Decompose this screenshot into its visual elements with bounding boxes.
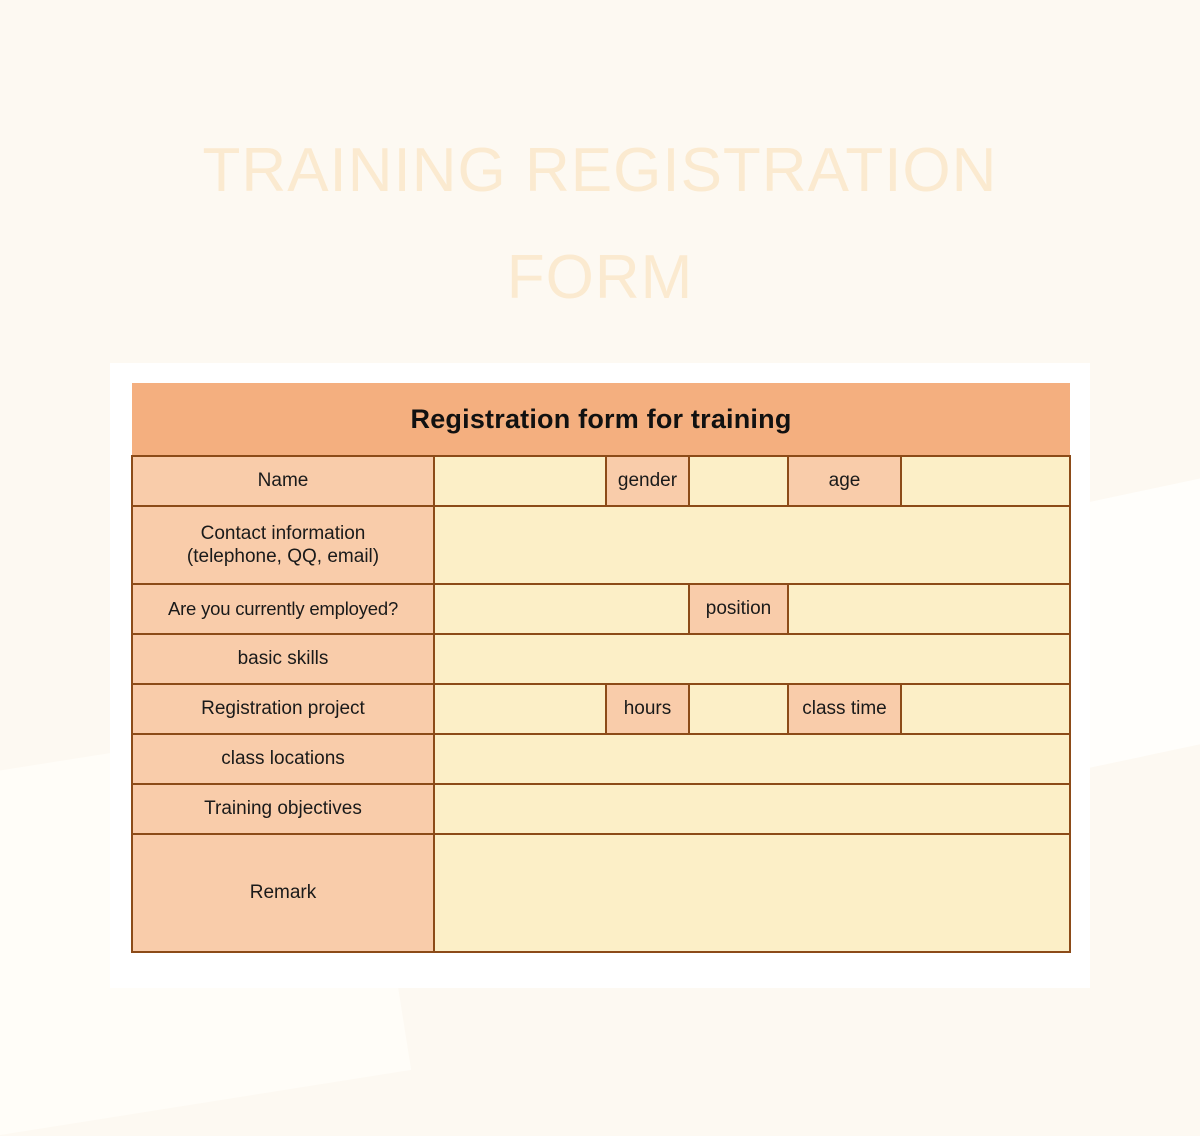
row-sublabel-gender: gender	[606, 456, 689, 506]
row-label-training-objectives: Training objectives	[132, 784, 434, 834]
row-sublabel-hours: hours	[606, 684, 689, 734]
table-row-remark: Remark	[132, 834, 1070, 952]
input-name-value[interactable]	[434, 456, 606, 506]
row-label-class-locations: class locations	[132, 734, 434, 784]
input-position-value[interactable]	[788, 584, 1070, 634]
input-contact-information-value[interactable]	[434, 506, 1070, 584]
input-training-objectives-value[interactable]	[434, 784, 1070, 834]
row-label-contact-line1: Contact information	[137, 522, 429, 545]
row-label-name: Name	[132, 456, 434, 506]
row-label-remark: Remark	[132, 834, 434, 952]
table-row-name: Name gender age	[132, 456, 1070, 506]
page-title: TRAINING REGISTRATION FORM	[0, 118, 1200, 331]
input-age-value[interactable]	[901, 456, 1070, 506]
input-class-locations-value[interactable]	[434, 734, 1070, 784]
input-employed-value[interactable]	[434, 584, 689, 634]
input-hours-value[interactable]	[689, 684, 788, 734]
row-label-basic-skills: basic skills	[132, 634, 434, 684]
table-row-basic-skills: basic skills	[132, 634, 1070, 684]
row-sublabel-class-time: class time	[788, 684, 901, 734]
input-registration-project-value[interactable]	[434, 684, 606, 734]
table-header-title: Registration form for training	[132, 383, 1070, 456]
table-row-registration-project: Registration project hours class time	[132, 684, 1070, 734]
row-label-registration-project: Registration project	[132, 684, 434, 734]
table-row-training-objectives: Training objectives	[132, 784, 1070, 834]
table-header-row: Registration form for training	[132, 383, 1070, 456]
row-label-contact-information: Contact information (telephone, QQ, emai…	[132, 506, 434, 584]
input-remark-value[interactable]	[434, 834, 1070, 952]
row-label-contact-line2: (telephone, QQ, email)	[137, 545, 429, 568]
input-gender-value[interactable]	[689, 456, 788, 506]
row-sublabel-position: position	[689, 584, 788, 634]
table-row-employed: Are you currently employed? position	[132, 584, 1070, 634]
input-class-time-value[interactable]	[901, 684, 1070, 734]
table-row-class-locations: class locations	[132, 734, 1070, 784]
training-registration-table: Registration form for training Name gend…	[131, 383, 1071, 953]
row-label-employed: Are you currently employed?	[132, 584, 434, 634]
row-sublabel-age: age	[788, 456, 901, 506]
form-card: Registration form for training Name gend…	[110, 363, 1090, 988]
table-row-contact-information: Contact information (telephone, QQ, emai…	[132, 506, 1070, 584]
input-basic-skills-value[interactable]	[434, 634, 1070, 684]
